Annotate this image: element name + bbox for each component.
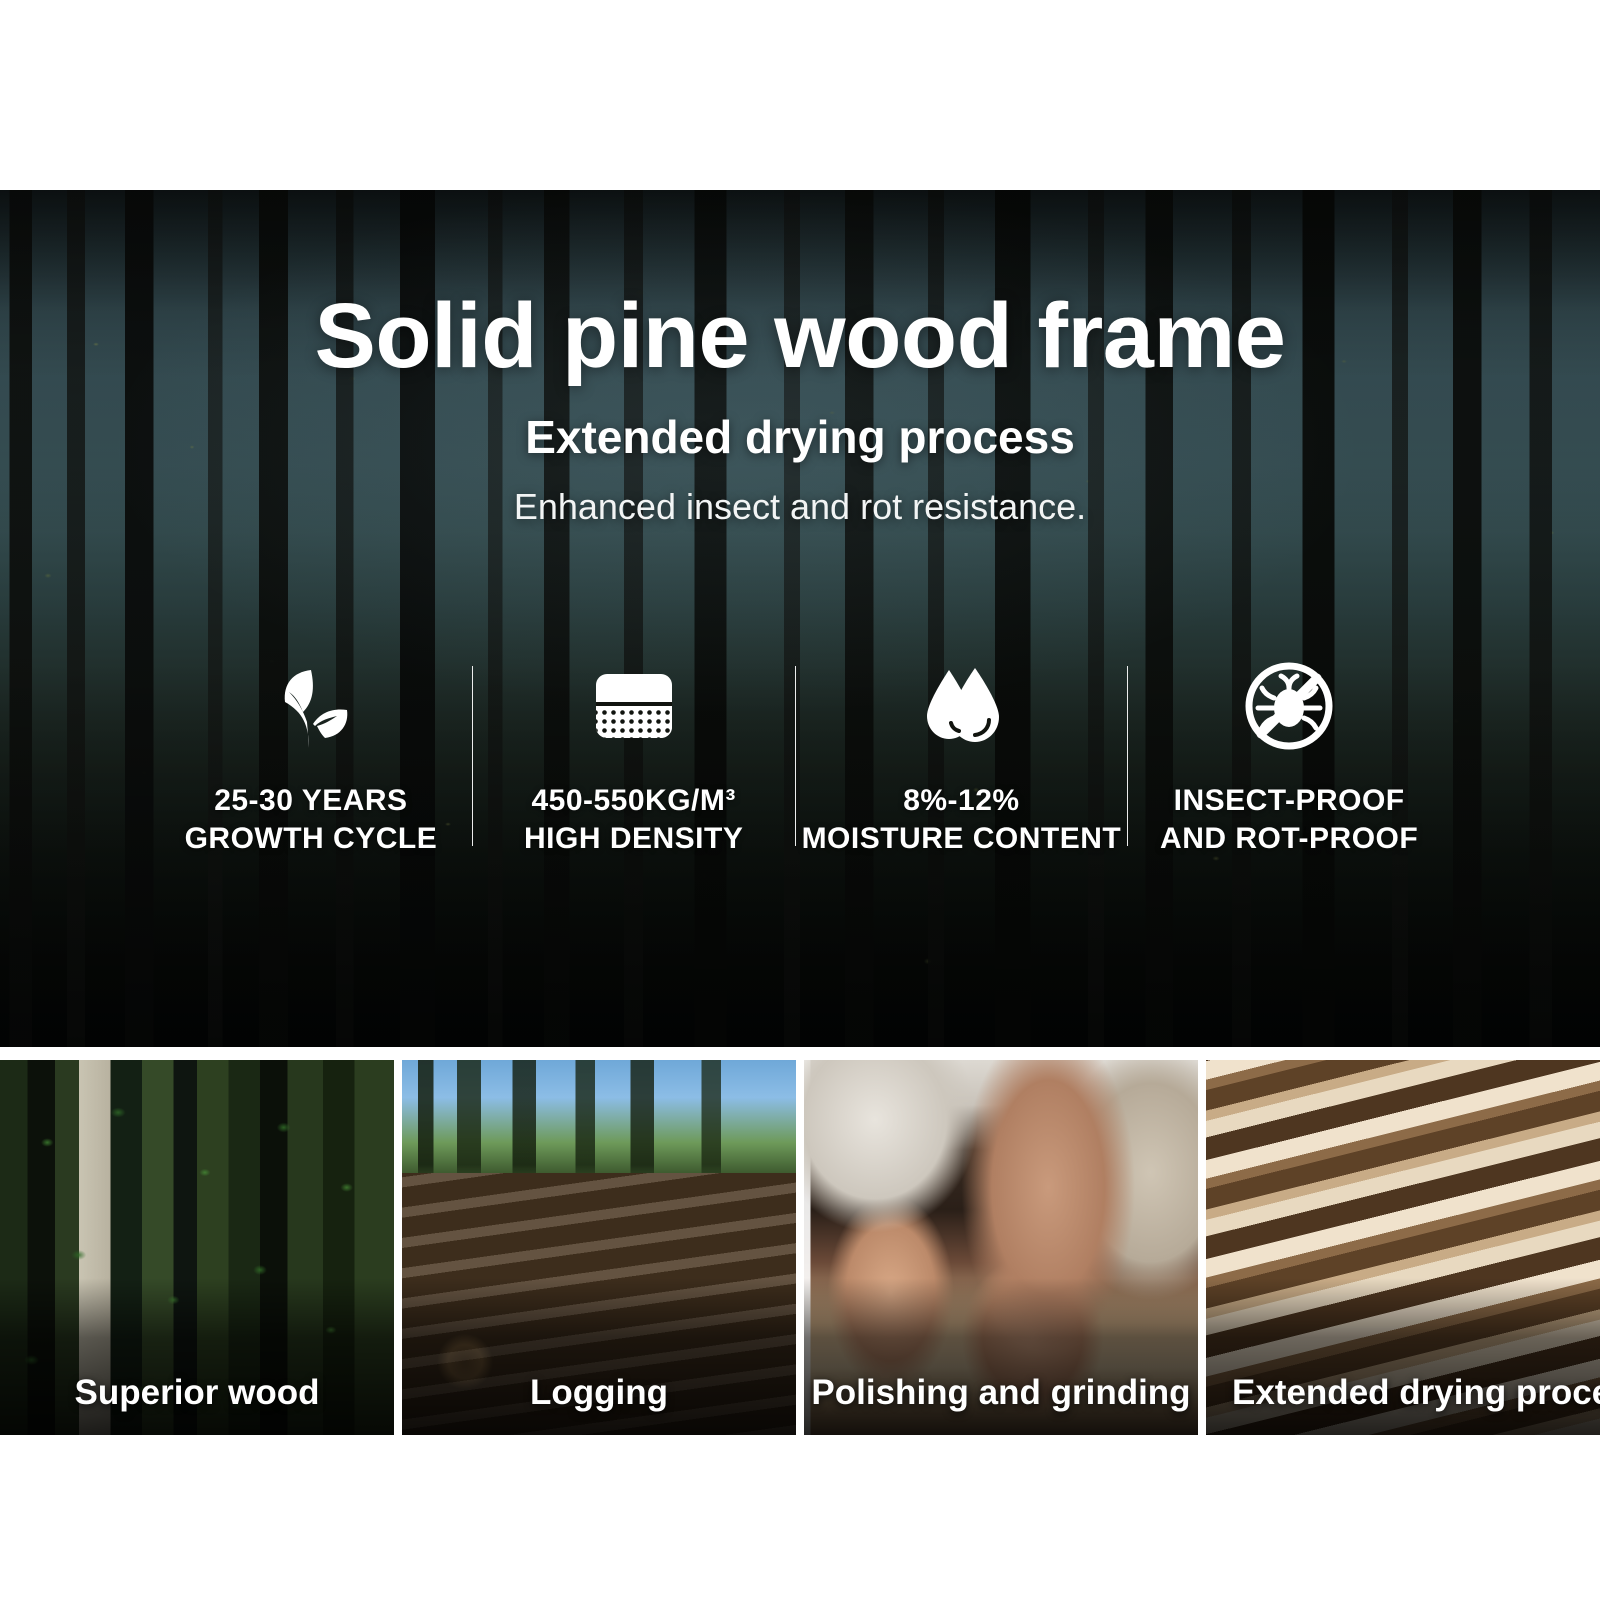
thumbnail-caption: Polishing and grinding — [804, 1373, 1198, 1413]
hero-banner: Solid pine wood frame Extended drying pr… — [0, 190, 1600, 1047]
stat-value: 8%-12% — [903, 782, 1019, 820]
stat-label: MOISTURE CONTENT — [802, 820, 1122, 858]
page-title: Solid pine wood frame — [315, 290, 1286, 382]
stat-label: HIGH DENSITY — [524, 820, 743, 858]
hero-subtitle: Extended drying process — [525, 410, 1075, 464]
stat-insect-rot-proof: INSECT-PROOF AND ROT-PROOF — [1128, 652, 1450, 859]
stat-label: GROWTH CYCLE — [185, 820, 438, 858]
no-insect-icon — [1237, 652, 1341, 760]
density-block-icon — [582, 652, 686, 760]
water-droplets-icon — [909, 652, 1013, 760]
stat-value: 450-550KG/M³ — [531, 782, 735, 820]
thumbnail-extended-drying[interactable]: Extended drying process — [1206, 1060, 1600, 1435]
infographic-page: Solid pine wood frame Extended drying pr… — [0, 0, 1600, 1600]
stat-growth-cycle: 25-30 YEARS GROWTH CYCLE — [150, 652, 472, 859]
sprout-leaf-icon — [259, 652, 363, 760]
stat-high-density: 450-550KG/M³ HIGH DENSITY — [473, 652, 795, 859]
process-thumbnail-strip: Superior wood Logging Polishing and grin… — [0, 1060, 1600, 1435]
thumbnail-caption: Logging — [402, 1373, 796, 1413]
hero-content: Solid pine wood frame Extended drying pr… — [0, 190, 1600, 1047]
stat-label: AND ROT-PROOF — [1160, 820, 1418, 858]
thumbnail-polishing-grinding[interactable]: Polishing and grinding — [804, 1060, 1198, 1435]
thumbnail-caption: Superior wood — [0, 1373, 394, 1413]
thumbnail-superior-wood[interactable]: Superior wood — [0, 1060, 394, 1435]
stat-moisture-content: 8%-12% MOISTURE CONTENT — [796, 652, 1128, 859]
feature-stats-row: 25-30 YEARS GROWTH CYCLE — [150, 652, 1450, 859]
thumbnail-logging[interactable]: Logging — [402, 1060, 796, 1435]
thumbnail-caption: Extended drying process — [1206, 1373, 1600, 1413]
stat-value: INSECT-PROOF — [1174, 782, 1405, 820]
stat-value: 25-30 YEARS — [214, 782, 407, 820]
hero-tagline: Enhanced insect and rot resistance. — [514, 486, 1086, 528]
